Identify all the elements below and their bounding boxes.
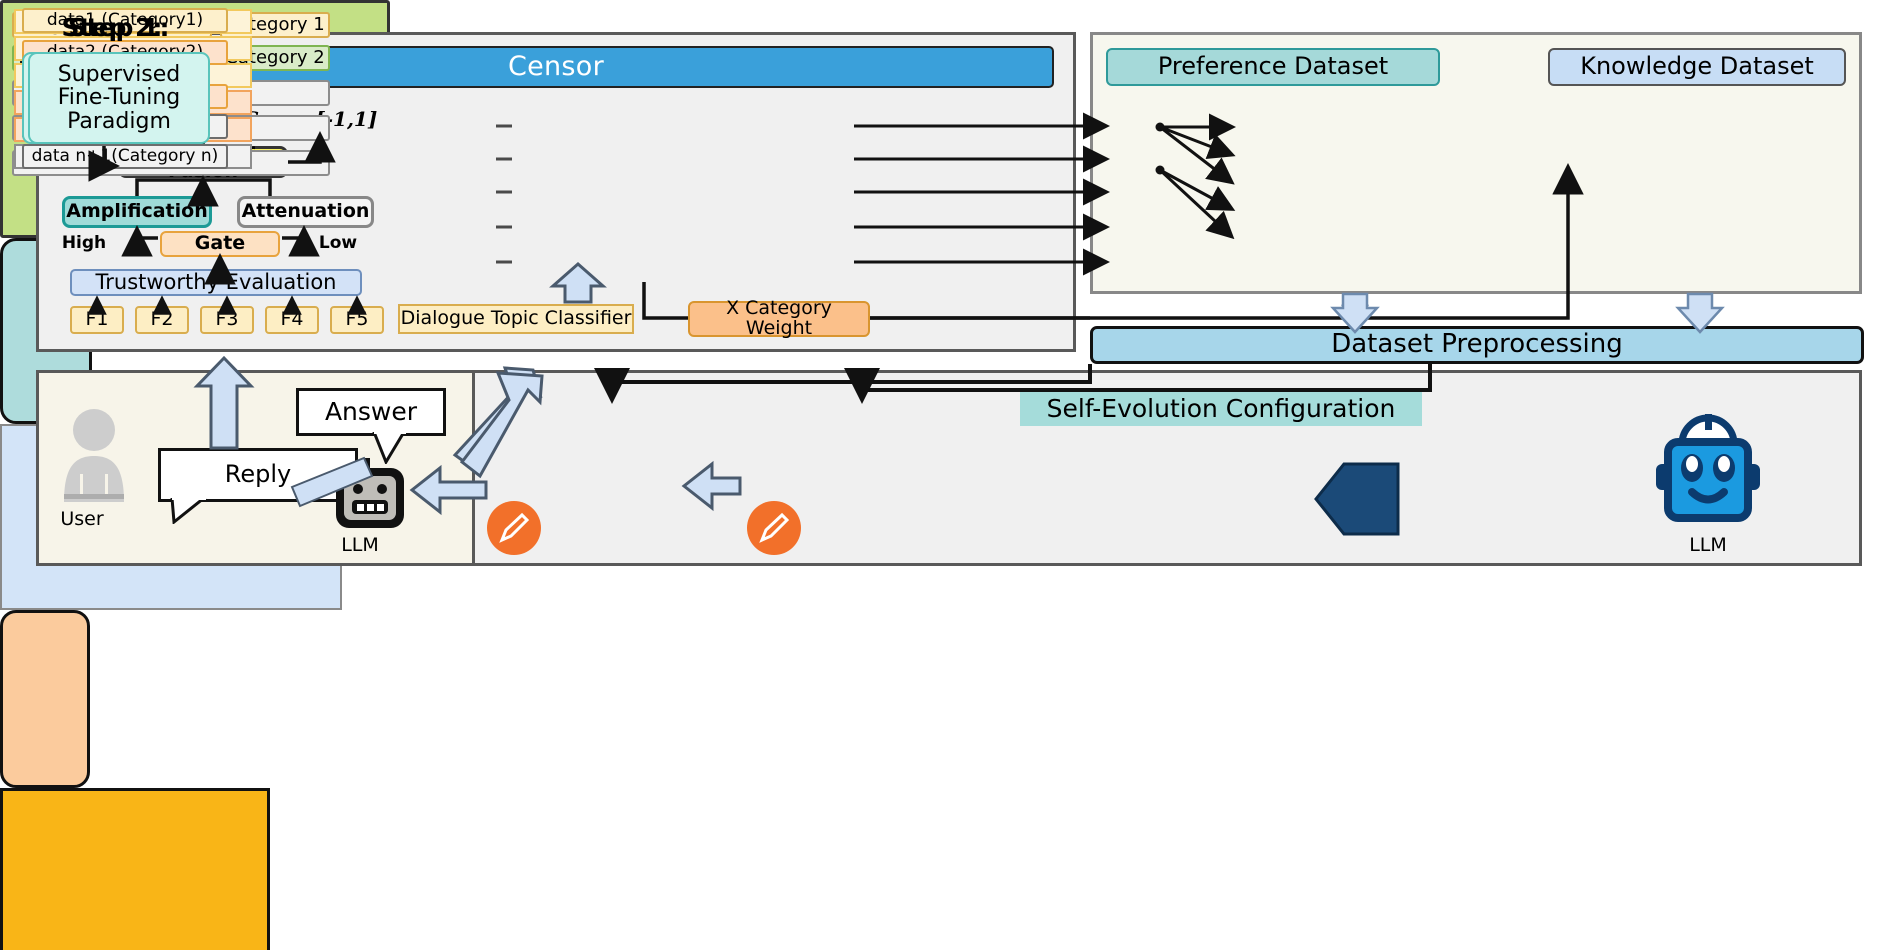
dialogue-topic-classifier-box: Dialogue Topic Classifier [398,304,634,334]
user-label: User [42,508,122,532]
step-1-title: Step 1: [0,12,238,44]
category-weight-box: X Category Weight [688,301,870,337]
sft-line-2: Fine-Tuning [58,86,181,109]
low-label: Low [312,231,364,257]
llm-robot-icon [330,458,410,534]
llm-robot-blue-icon [1650,412,1766,530]
feature-box-f2: F2 [135,306,189,334]
preference-dataset-title: Preference Dataset [1106,48,1440,86]
feature-box-f3: F3 [200,306,254,334]
feature-box-f1: F1 [70,306,124,334]
preference-items-list: data1 (Score: .3) data2 (Score: .3) data… [0,788,270,950]
dark-arrow-icon [1314,462,1402,536]
high-label: High [58,231,110,257]
multiplier-column: X 3 X 2 ..... ..... [0,610,90,788]
sft-line-1: Supervised [58,63,181,86]
answer-speech-bubble: Answer [296,388,446,436]
supervised-fine-tuning-paradigm-box: Supervised Fine-Tuning Paradigm [28,52,210,144]
gate-box: Gate [160,231,280,257]
reply-speech-bubble: Reply [158,448,358,502]
reply-bubble-tail-icon [168,498,210,524]
attenuation-box: Attenuation [237,196,374,228]
self-evolution-configuration-title: Self-Evolution Configuration [1020,392,1422,426]
user-avatar-icon [58,408,130,502]
feature-box-f4: F4 [265,306,319,334]
dataset-preprocessing-bar: Dataset Preprocessing [1090,326,1864,364]
knowledge-dataset-title: Knowledge Dataset [1548,48,1846,86]
llm-label-left: LLM [320,534,400,558]
knowledge-item: data n+1(Category n) [22,144,228,169]
pencil-badge-icon-step2 [486,500,542,556]
pencil-badge-icon-step1 [746,500,802,556]
amplification-box: Amplification [62,196,212,228]
trustworthy-evaluation-box: Trustworthy Evaluation [70,269,362,296]
feature-box-f5: F5 [330,306,384,334]
sft-line-3: Paradigm [67,110,171,133]
llm-label-right: LLM [1668,534,1748,558]
